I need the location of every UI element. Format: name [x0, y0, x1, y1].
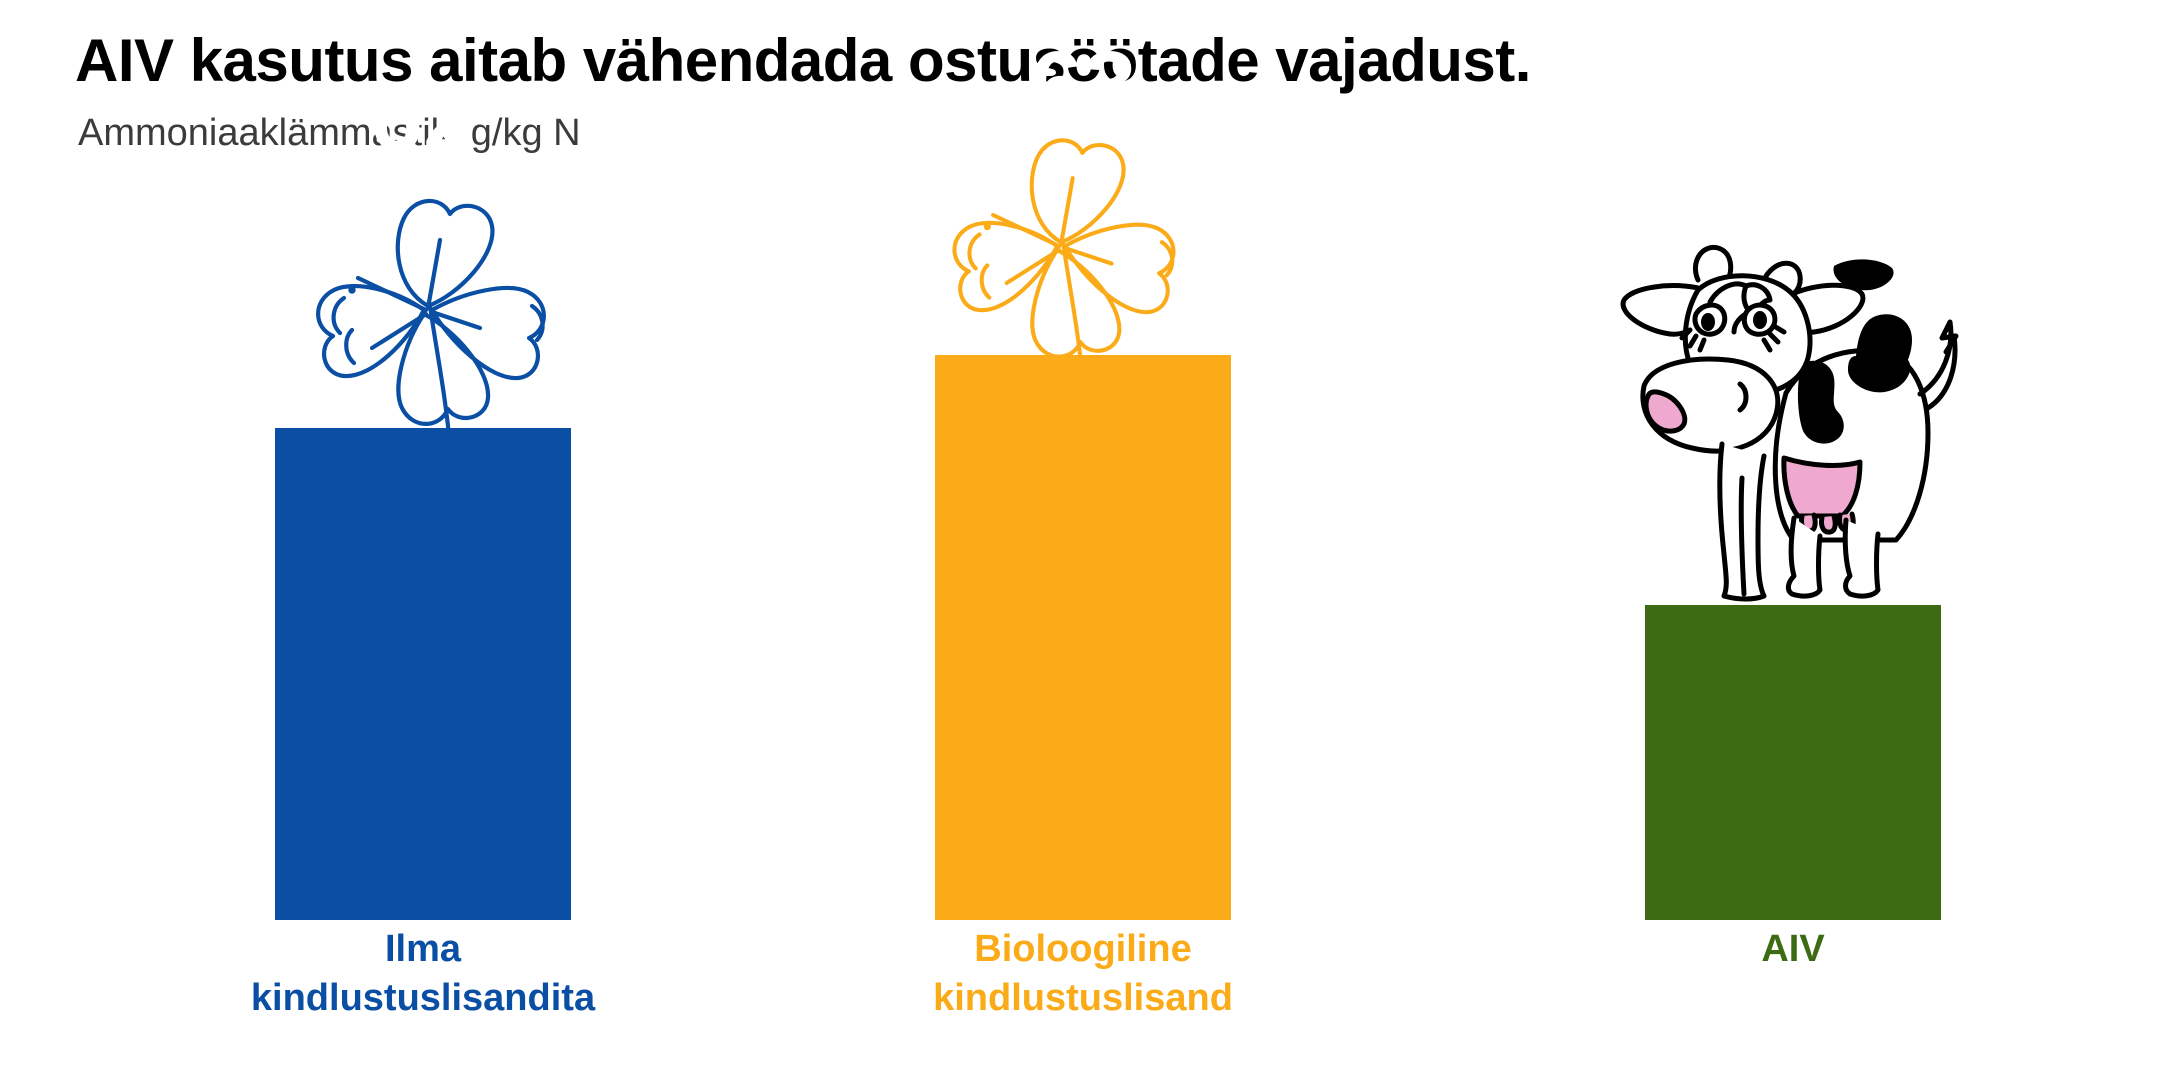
- bar-value-orange: 63: [935, 38, 1231, 134]
- bar-label-blue-line1: Ilma: [215, 925, 631, 974]
- bar-group-bioloogiline-kindlustuslisand[interactable]: 63 Bioloogiline kindlustuslisand: [935, 0, 1231, 1080]
- bar-label-orange-line1: Bioloogiline: [875, 925, 1291, 974]
- bar-label-green-line1: AIV: [1585, 925, 2001, 974]
- bar-rect-blue[interactable]: [275, 428, 571, 920]
- bar-label-blue-line2: kindlustuslisandita: [215, 974, 631, 1023]
- chart-canvas: AIV kasutus aitab vähendada ostusöötade …: [0, 0, 2160, 1080]
- bar-label-orange-line2: kindlustuslisand: [875, 974, 1291, 1023]
- bar-group-ilma-kindlustuslisandita[interactable]: 62 Ilma kindlustuslisandita: [275, 0, 571, 1080]
- bar-label-orange: Bioloogiline kindlustuslisand: [875, 925, 1291, 1022]
- bar-value-blue: 62: [275, 70, 571, 166]
- bar-label-green: AIV: [1585, 925, 2001, 974]
- bar-rect-orange[interactable]: [935, 355, 1231, 920]
- bar-value-green: 46: [1645, 70, 1941, 166]
- bar-rect-green[interactable]: [1645, 605, 1941, 920]
- bar-group-aiv[interactable]: 46 AIV: [1645, 0, 1941, 1080]
- bar-label-blue: Ilma kindlustuslisandita: [215, 925, 631, 1022]
